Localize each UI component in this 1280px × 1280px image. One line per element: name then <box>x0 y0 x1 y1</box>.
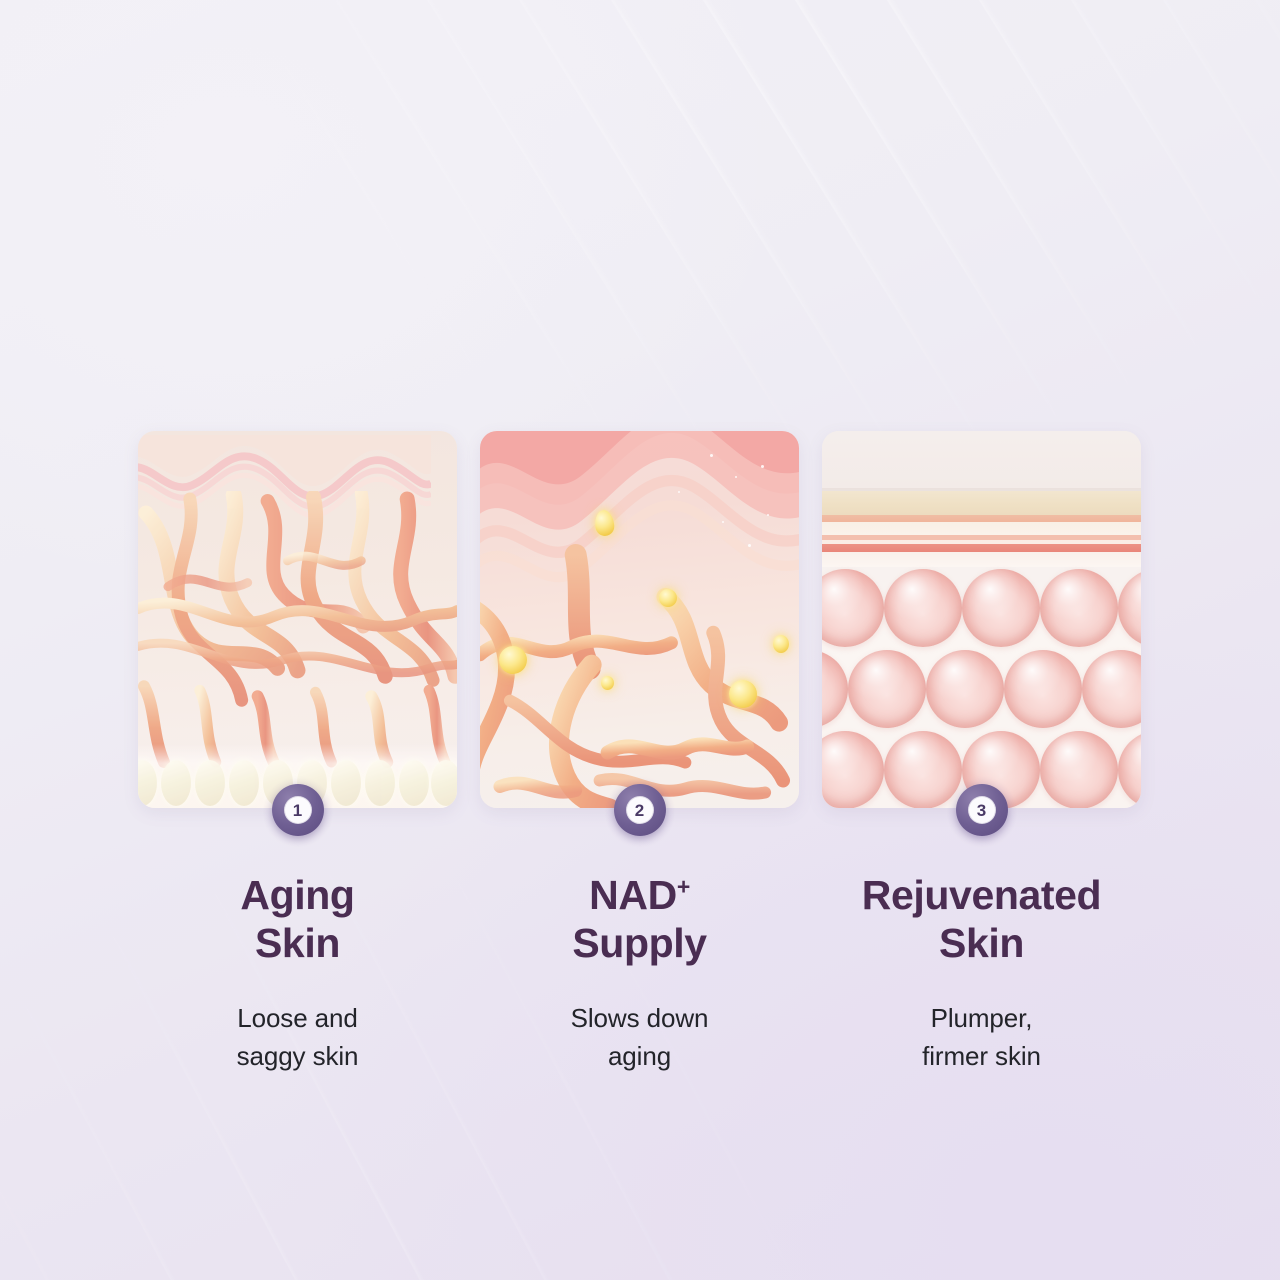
card-desc-3: Plumper,firmer skin <box>922 1000 1041 1075</box>
card-image-aging-skin[interactable] <box>138 431 457 808</box>
badge-number: 3 <box>968 796 996 824</box>
card-desc-3-line2: firmer skin <box>922 1041 1041 1071</box>
card-title-2-second: Supply <box>572 920 706 966</box>
collagen-strands-icon <box>480 537 799 808</box>
step-badge-3: 3 <box>956 784 1008 836</box>
illustration-plump-spheres <box>822 431 1141 808</box>
skin-layer-surface <box>822 431 1141 489</box>
collagen-fibers-icon <box>138 491 457 770</box>
card-column-1: 1 AgingSkin Loose andsaggy skin <box>138 431 457 1075</box>
badge-circle-icon: 2 <box>614 784 666 836</box>
illustration-loose-collagen <box>138 431 457 808</box>
card-title-1-second: Skin <box>255 920 340 966</box>
card-title-3-main: Rejuvenated <box>862 872 1101 918</box>
badge-circle-icon: 1 <box>272 784 324 836</box>
step-badge-2: 2 <box>614 784 666 836</box>
card-title-1: AgingSkin <box>240 872 354 967</box>
card-desc-2: Slows downaging <box>571 1000 709 1075</box>
nad-droplet-icon <box>499 646 527 674</box>
skin-layer-gap <box>822 552 1141 567</box>
badge-number: 1 <box>284 796 312 824</box>
infographic-page: NAD+ for Rejuvenated Skin NAD+, a powerf… <box>0 0 1280 1280</box>
cards-row: 1 AgingSkin Loose andsaggy skin <box>138 431 1142 1075</box>
card-desc-2-line2: aging <box>608 1041 671 1071</box>
card-title-3-second: Skin <box>939 920 1024 966</box>
card-title-2-sup: + <box>677 873 690 899</box>
illustration-nad-droplets <box>480 431 799 808</box>
card-column-3: 3 RejuvenatedSkin Plumper,firmer skin <box>822 431 1141 1075</box>
badge-circle-icon: 3 <box>956 784 1008 836</box>
card-title-3: RejuvenatedSkin <box>862 872 1101 967</box>
card-title-2-main: NAD <box>589 872 677 918</box>
card-desc-1-line2: saggy skin <box>237 1041 359 1071</box>
card-title-2: NAD+Supply <box>572 872 706 967</box>
card-desc-2-line1: Slows down <box>571 1003 709 1033</box>
step-badge-1: 1 <box>272 784 324 836</box>
nad-droplet-icon <box>659 589 677 607</box>
card-desc-1: Loose andsaggy skin <box>237 1000 359 1075</box>
skin-layer-cream <box>822 491 1141 514</box>
card-desc-3-line1: Plumper, <box>931 1003 1033 1033</box>
skin-layer-salmon <box>822 515 1141 522</box>
card-column-2: 2 NAD+Supply Slows downaging <box>480 431 799 1075</box>
card-image-rejuvenated-skin[interactable] <box>822 431 1141 808</box>
card-desc-1-line1: Loose and <box>237 1003 358 1033</box>
skin-layer-pale <box>822 522 1141 536</box>
nad-droplet-icon <box>729 680 757 708</box>
card-image-nad-supply[interactable] <box>480 431 799 808</box>
badge-number: 2 <box>626 796 654 824</box>
card-title-1-main: Aging <box>240 872 354 918</box>
